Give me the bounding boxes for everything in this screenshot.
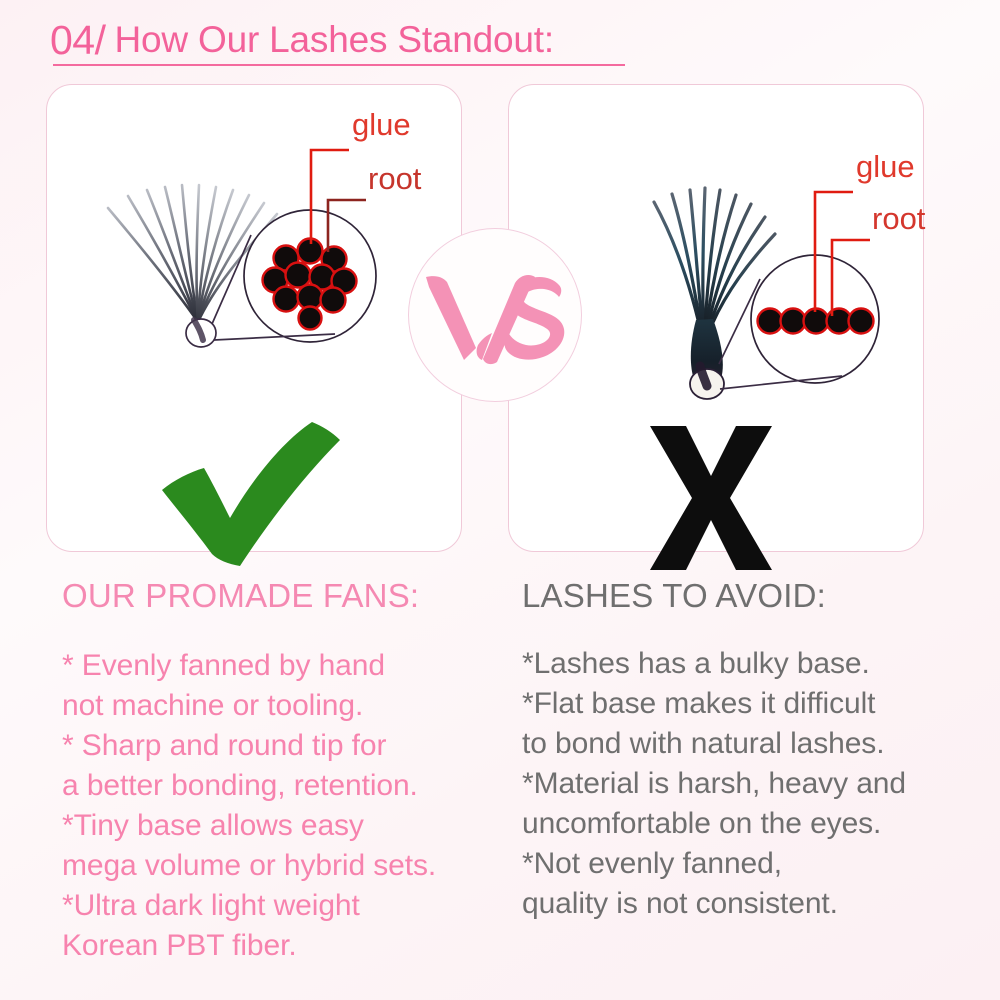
column-heading-bad: LASHES TO AVOID: [522,576,952,616]
green-check-icon [160,422,350,567]
bullet-line: to bond with natural lashes. [522,724,952,764]
text-column-good: OUR PROMADE FANS: * Evenly fanned by han… [62,576,492,966]
bullet-line: Korean PBT fiber. [62,926,492,966]
bullet-line: *Lashes has a bulky base. [522,644,952,684]
bullet-line: uncomfortable on the eyes. [522,804,952,844]
vs-badge [408,228,582,402]
bullet-line: *Flat base makes it difficult [522,684,952,724]
bullet-line: *Ultra dark light weight [62,886,492,926]
label-root-right: root [872,201,926,236]
bullet-line: quality is not consistent. [522,884,952,924]
bullet-line: * Evenly fanned by hand [62,646,492,686]
column-heading-good: OUR PROMADE FANS: [62,576,492,616]
bullet-list-bad: *Lashes has a bulky base. *Flat base mak… [522,644,952,924]
vs-text-icon [420,263,570,367]
bullet-list-good: * Evenly fanned by hand not machine or t… [62,646,492,966]
page-header: 04/ How Our Lashes Standout: [50,10,950,70]
header-underline [53,64,625,66]
bullet-line: a better bonding, retention. [62,766,492,806]
bullet-line: *Material is harsh, heavy and [522,764,952,804]
bullet-line: * Sharp and round tip for [62,726,492,766]
label-glue-left: glue [352,107,411,142]
page-title: How Our Lashes Standout: [115,19,554,61]
infographic-root: 04/ How Our Lashes Standout: [0,0,1000,1000]
bullet-line: mega volume or hybrid sets. [62,846,492,886]
black-x-icon [646,424,776,572]
bullet-line: not machine or tooling. [62,686,492,726]
bullet-line: *Not evenly fanned, [522,844,952,884]
bullet-line: *Tiny base allows easy [62,806,492,846]
header-number: 04/ [50,17,106,64]
text-column-bad: LASHES TO AVOID: *Lashes has a bulky bas… [522,576,952,924]
label-root-left: root [368,161,422,196]
label-glue-right: glue [856,149,915,184]
